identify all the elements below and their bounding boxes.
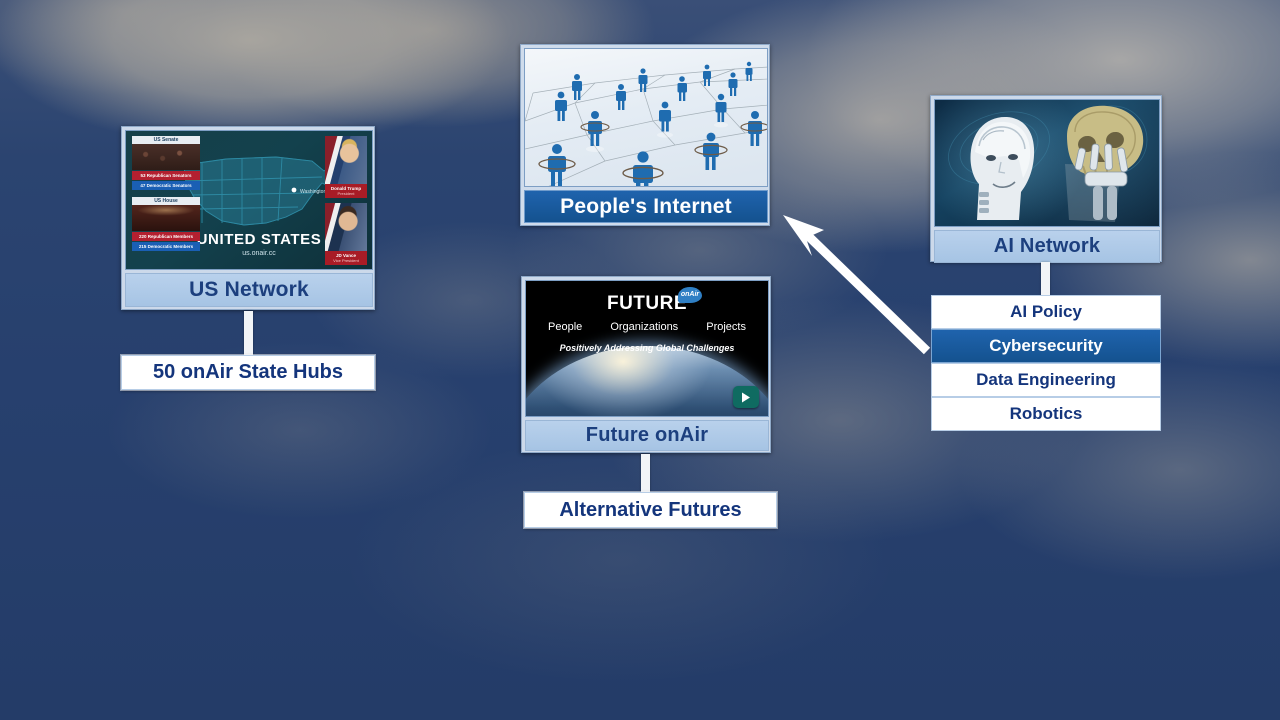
- us-senate-republicans: 53 Republican Senators: [132, 171, 200, 180]
- future-onair-thumbnail[interactable]: FUTURE onAir People Organizations Projec…: [525, 280, 769, 417]
- us-house-photo: [132, 205, 200, 231]
- peoples-internet-artwork: [525, 49, 767, 186]
- future-nav-projects[interactable]: Projects: [706, 321, 746, 333]
- president-role: President: [325, 191, 367, 198]
- ai-network-thumbnail[interactable]: [934, 99, 1160, 227]
- ai-topic-cybersecurity[interactable]: Cybersecurity: [931, 329, 1161, 363]
- connector-future-onair-to-alternative-futures: [641, 454, 650, 492]
- ai-topic-ai-policy[interactable]: AI Policy: [931, 295, 1161, 329]
- president-name: Donald Trump: [325, 184, 367, 191]
- node-card-future-onair[interactable]: FUTURE onAir People Organizations Projec…: [521, 276, 771, 453]
- us-senate-photo: [132, 144, 200, 170]
- president-photo: [325, 136, 367, 184]
- node-label-peoples-internet[interactable]: People's Internet: [524, 190, 768, 223]
- us-senate-title: US Senate: [132, 136, 200, 144]
- future-nav[interactable]: People Organizations Projects: [536, 321, 758, 333]
- ai-topic-data-engineering[interactable]: Data Engineering: [931, 363, 1161, 397]
- node-label-us-network[interactable]: US Network: [125, 273, 373, 307]
- us-house-republicans: 220 Republican Members: [132, 232, 200, 241]
- future-nav-organizations[interactable]: Organizations: [610, 321, 678, 333]
- vice-president-role: Vice President: [325, 258, 367, 265]
- node-label-future-onair[interactable]: Future onAir: [525, 420, 769, 451]
- node-card-ai-network[interactable]: AI Network: [930, 95, 1162, 262]
- us-senate-panel: US Senate 53 Republican Senators 47 Demo…: [132, 136, 200, 190]
- peoples-internet-thumbnail[interactable]: [524, 48, 768, 187]
- node-card-peoples-internet[interactable]: People's Internet: [520, 44, 770, 226]
- ai-topics-list: AI Policy Cybersecurity Data Engineering…: [931, 295, 1161, 431]
- vice-president-photo: [325, 203, 367, 251]
- ai-topic-robotics[interactable]: Robotics: [931, 397, 1161, 431]
- box-50-onair-state-hubs[interactable]: 50 onAir State Hubs: [121, 355, 375, 390]
- us-official-vice-president: JD Vance Vice President: [325, 203, 367, 265]
- network-map-canvas: Washington DC UNITED STATES us.onair.cc …: [0, 0, 1280, 720]
- us-house-panel: US House 220 Republican Members 215 Demo…: [132, 197, 200, 251]
- us-country-title: UNITED STATES: [192, 231, 326, 248]
- us-senate-democrats: 47 Democratic Senators: [132, 181, 200, 190]
- vice-president-name: JD Vance: [325, 251, 367, 258]
- future-tagline: Positively Addressing Global Challenges: [526, 343, 768, 353]
- us-site-url: us.onair.cc: [192, 250, 326, 257]
- us-house-democrats: 215 Democratic Members: [132, 242, 200, 251]
- us-network-thumbnail[interactable]: Washington DC UNITED STATES us.onair.cc …: [125, 130, 373, 270]
- us-official-president: Donald Trump President: [325, 136, 367, 198]
- us-house-title: US House: [132, 197, 200, 205]
- connector-ai-network-to-topics: [1041, 262, 1050, 295]
- play-triangle-icon: [741, 392, 751, 403]
- future-title: FUTURE: [526, 293, 768, 315]
- ai-network-artwork: [935, 100, 1159, 226]
- connector-us-network-to-hubs: [244, 311, 253, 355]
- node-label-ai-network[interactable]: AI Network: [934, 230, 1160, 263]
- box-alternative-futures[interactable]: Alternative Futures: [524, 492, 777, 528]
- node-card-us-network[interactable]: Washington DC UNITED STATES us.onair.cc …: [121, 126, 375, 310]
- future-nav-people[interactable]: People: [548, 321, 582, 333]
- onair-badge-icon-future: onAir: [678, 287, 702, 303]
- play-icon[interactable]: [733, 386, 759, 408]
